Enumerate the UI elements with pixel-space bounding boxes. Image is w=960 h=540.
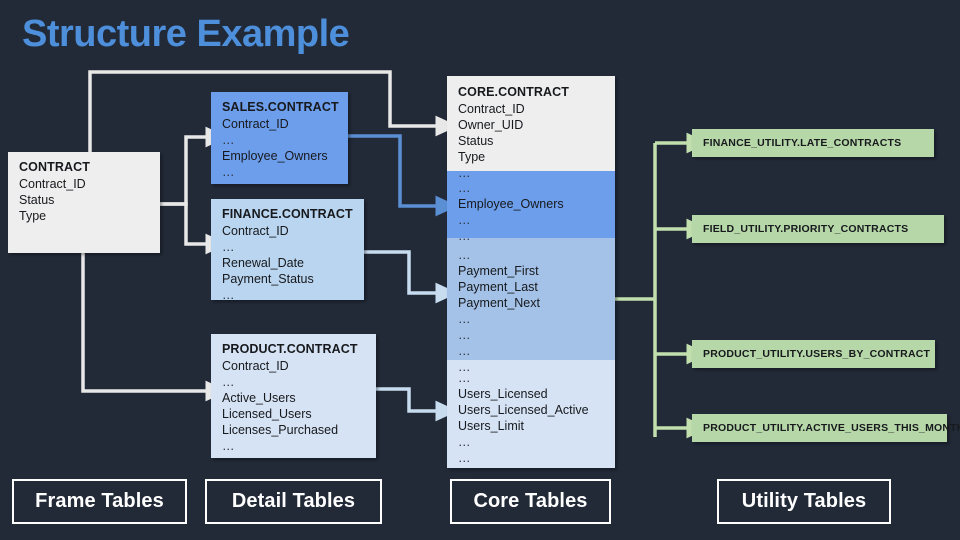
core-segment-3: … Payment_First Payment_Last Payment_Nex… — [447, 238, 615, 360]
table-product-utility-active-users-this-month[interactable]: PRODUCT_UTILITY.ACTIVE_USERS_THIS_MONTH — [692, 414, 947, 442]
core-segment-4: … Users_Licensed Users_Licensed_Active U… — [447, 360, 615, 468]
table-field: Licensed_Users — [222, 406, 366, 422]
table-field: Employee_Owners — [222, 148, 338, 164]
table-field: Contract_ID — [458, 101, 605, 117]
table-field-ellipsis: … — [458, 311, 605, 327]
table-field-ellipsis: … — [222, 374, 366, 390]
table-field-ellipsis: … — [222, 239, 354, 255]
table-field: Licenses_Purchased — [222, 422, 366, 438]
table-field: Renewal_Date — [222, 255, 354, 271]
table-finance-utility-late-contracts[interactable]: FINANCE_UTILITY.LATE_CONTRACTS — [692, 129, 934, 157]
edge-finance-to-core — [364, 252, 437, 293]
legend-utility-tables[interactable]: Utility Tables — [717, 479, 891, 524]
table-product-contract[interactable]: PRODUCT.CONTRACT Contract_ID … Active_Us… — [211, 334, 376, 458]
table-title: FINANCE.CONTRACT — [222, 206, 354, 223]
table-field: Payment_First — [458, 263, 605, 279]
edge-contract-to-sales — [160, 137, 207, 204]
table-contract[interactable]: CONTRACT Contract_ID Status Type — [8, 152, 160, 253]
table-field: Status — [19, 192, 150, 208]
utility-table-label: FIELD_UTILITY.PRIORITY_CONTRACTS — [703, 223, 908, 235]
table-field: Owner_UID — [458, 117, 605, 133]
utility-table-label: PRODUCT_UTILITY.USERS_BY_CONTRACT — [703, 348, 930, 360]
table-product-utility-users-by-contract[interactable]: PRODUCT_UTILITY.USERS_BY_CONTRACT — [692, 340, 935, 368]
legend-label: Core Tables — [473, 490, 587, 513]
table-field: Users_Limit — [458, 418, 605, 434]
legend-label: Detail Tables — [232, 490, 355, 513]
table-field-ellipsis: … — [458, 212, 605, 228]
table-field-ellipsis: … — [222, 287, 354, 303]
table-field-ellipsis: … — [222, 438, 366, 454]
utility-table-label: FINANCE_UTILITY.LATE_CONTRACTS — [703, 137, 901, 149]
edge-product-to-core — [376, 389, 437, 411]
table-field-utility-priority-contracts[interactable]: FIELD_UTILITY.PRIORITY_CONTRACTS — [692, 215, 944, 243]
table-field-ellipsis: … — [458, 327, 605, 343]
table-field: Payment_Status — [222, 271, 354, 287]
edge-sales-to-core — [348, 136, 437, 206]
table-field-ellipsis: … — [458, 450, 605, 466]
table-field-ellipsis: … — [222, 132, 338, 148]
table-sales-contract[interactable]: SALES.CONTRACT Contract_ID … Employee_Ow… — [211, 92, 348, 184]
table-field-ellipsis: … — [222, 164, 338, 180]
table-field: Contract_ID — [222, 223, 354, 239]
table-field: Status — [458, 133, 605, 149]
table-field-ellipsis: … — [458, 343, 605, 359]
core-segment-1: CORE.CONTRACT Contract_ID Owner_UID Stat… — [447, 76, 615, 171]
legend-frame-tables[interactable]: Frame Tables — [12, 479, 187, 524]
table-field-ellipsis: … — [458, 434, 605, 450]
page-title: Structure Example — [22, 14, 349, 56]
core-segment-2: … Employee_Owners … … — [447, 171, 615, 238]
table-field-ellipsis: … — [458, 247, 605, 263]
table-finance-contract[interactable]: FINANCE.CONTRACT Contract_ID … Renewal_D… — [211, 199, 364, 300]
table-field: Users_Licensed_Active — [458, 402, 605, 418]
table-field: Type — [458, 149, 605, 165]
table-field: Users_Licensed — [458, 386, 605, 402]
table-field: Contract_ID — [19, 176, 150, 192]
diagram-canvas: Structure Example CONTRACT Contract_ID S… — [0, 0, 960, 540]
utility-table-label: PRODUCT_UTILITY.ACTIVE_USERS_THIS_MONTH — [703, 422, 960, 434]
legend-detail-tables[interactable]: Detail Tables — [205, 479, 382, 524]
table-field: Payment_Last — [458, 279, 605, 295]
table-core-contract[interactable]: CORE.CONTRACT Contract_ID Owner_UID Stat… — [447, 76, 615, 468]
legend-label: Frame Tables — [35, 490, 164, 513]
table-field-ellipsis: … — [458, 370, 605, 386]
table-field: Type — [19, 208, 150, 224]
table-title: CONTRACT — [19, 159, 150, 176]
table-field: Active_Users — [222, 390, 366, 406]
table-field: Contract_ID — [222, 116, 338, 132]
table-title: CORE.CONTRACT — [458, 84, 605, 101]
table-field: Payment_Next — [458, 295, 605, 311]
legend-core-tables[interactable]: Core Tables — [450, 479, 611, 524]
table-title: SALES.CONTRACT — [222, 99, 338, 116]
table-field: Contract_ID — [222, 358, 366, 374]
edge-contract-to-finance — [160, 204, 207, 244]
edge-contract-to-product — [83, 253, 207, 391]
table-field: Employee_Owners — [458, 196, 605, 212]
table-title: PRODUCT.CONTRACT — [222, 341, 366, 358]
table-field-ellipsis: … — [458, 180, 605, 196]
legend-label: Utility Tables — [742, 490, 866, 513]
